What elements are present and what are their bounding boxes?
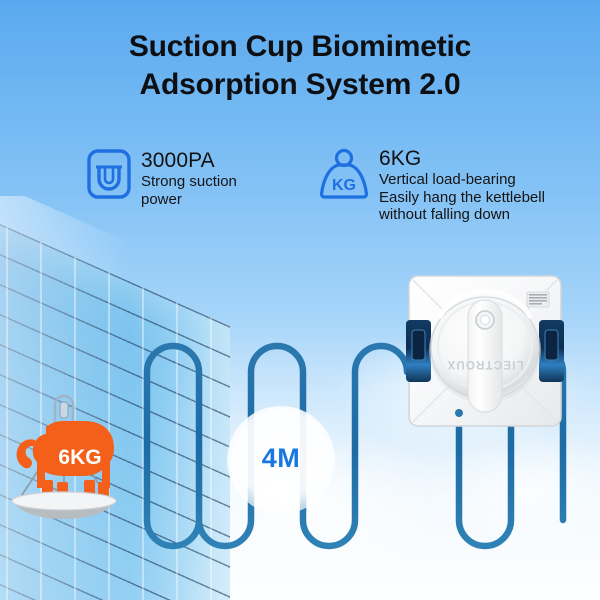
title-line-1: Suction Cup Biomimetic [0,28,600,66]
scale-pan [12,492,116,519]
robot-track-left [406,320,431,382]
kettlebell-kg-label: KG [332,177,356,194]
feature-load-line-1: Vertical load-bearing [379,171,545,189]
load-demo-elephant-scale: 6KG [2,392,142,552]
robot-track-right [539,320,564,382]
feature-suction-line-1: Strong suction [141,173,237,191]
magnet-icon [86,148,132,205]
spec-label-sticker [527,292,549,307]
feature-load-line-2: Easily hang the kettlebell [379,189,545,207]
kettlebell-weight-icon: KG [318,146,370,207]
feature-load-bearing: KG 6KG Vertical load-bearing Easily hang… [318,146,545,224]
cloud-wisp [420,430,600,550]
elephant-weight-label: 6KG [58,446,101,469]
cable-length-label: 4M [227,443,335,474]
feature-suction-power: 3000PA Strong suction power [86,148,237,208]
brand-logo-text: LIECTROUX [446,358,523,370]
feature-suction-text: 3000PA Strong suction power [141,148,237,208]
feature-suction-value: 3000PA [141,149,237,172]
cable-port [455,409,463,417]
feature-load-text: 6KG Vertical load-bearing Easily hang th… [379,146,545,224]
cable-length-badge: 4M [227,406,335,514]
page-title: Suction Cup Biomimetic Adsorption System… [0,28,600,104]
product-feature-banner: Suction Cup Biomimetic Adsorption System… [0,0,600,600]
title-line-2: Adsorption System 2.0 [0,66,600,104]
window-cleaning-robot: LIECTROUX [405,272,565,430]
feature-suction-line-2: power [141,191,237,209]
feature-load-value: 6KG [379,147,545,170]
feature-load-line-3: without falling down [379,206,545,224]
